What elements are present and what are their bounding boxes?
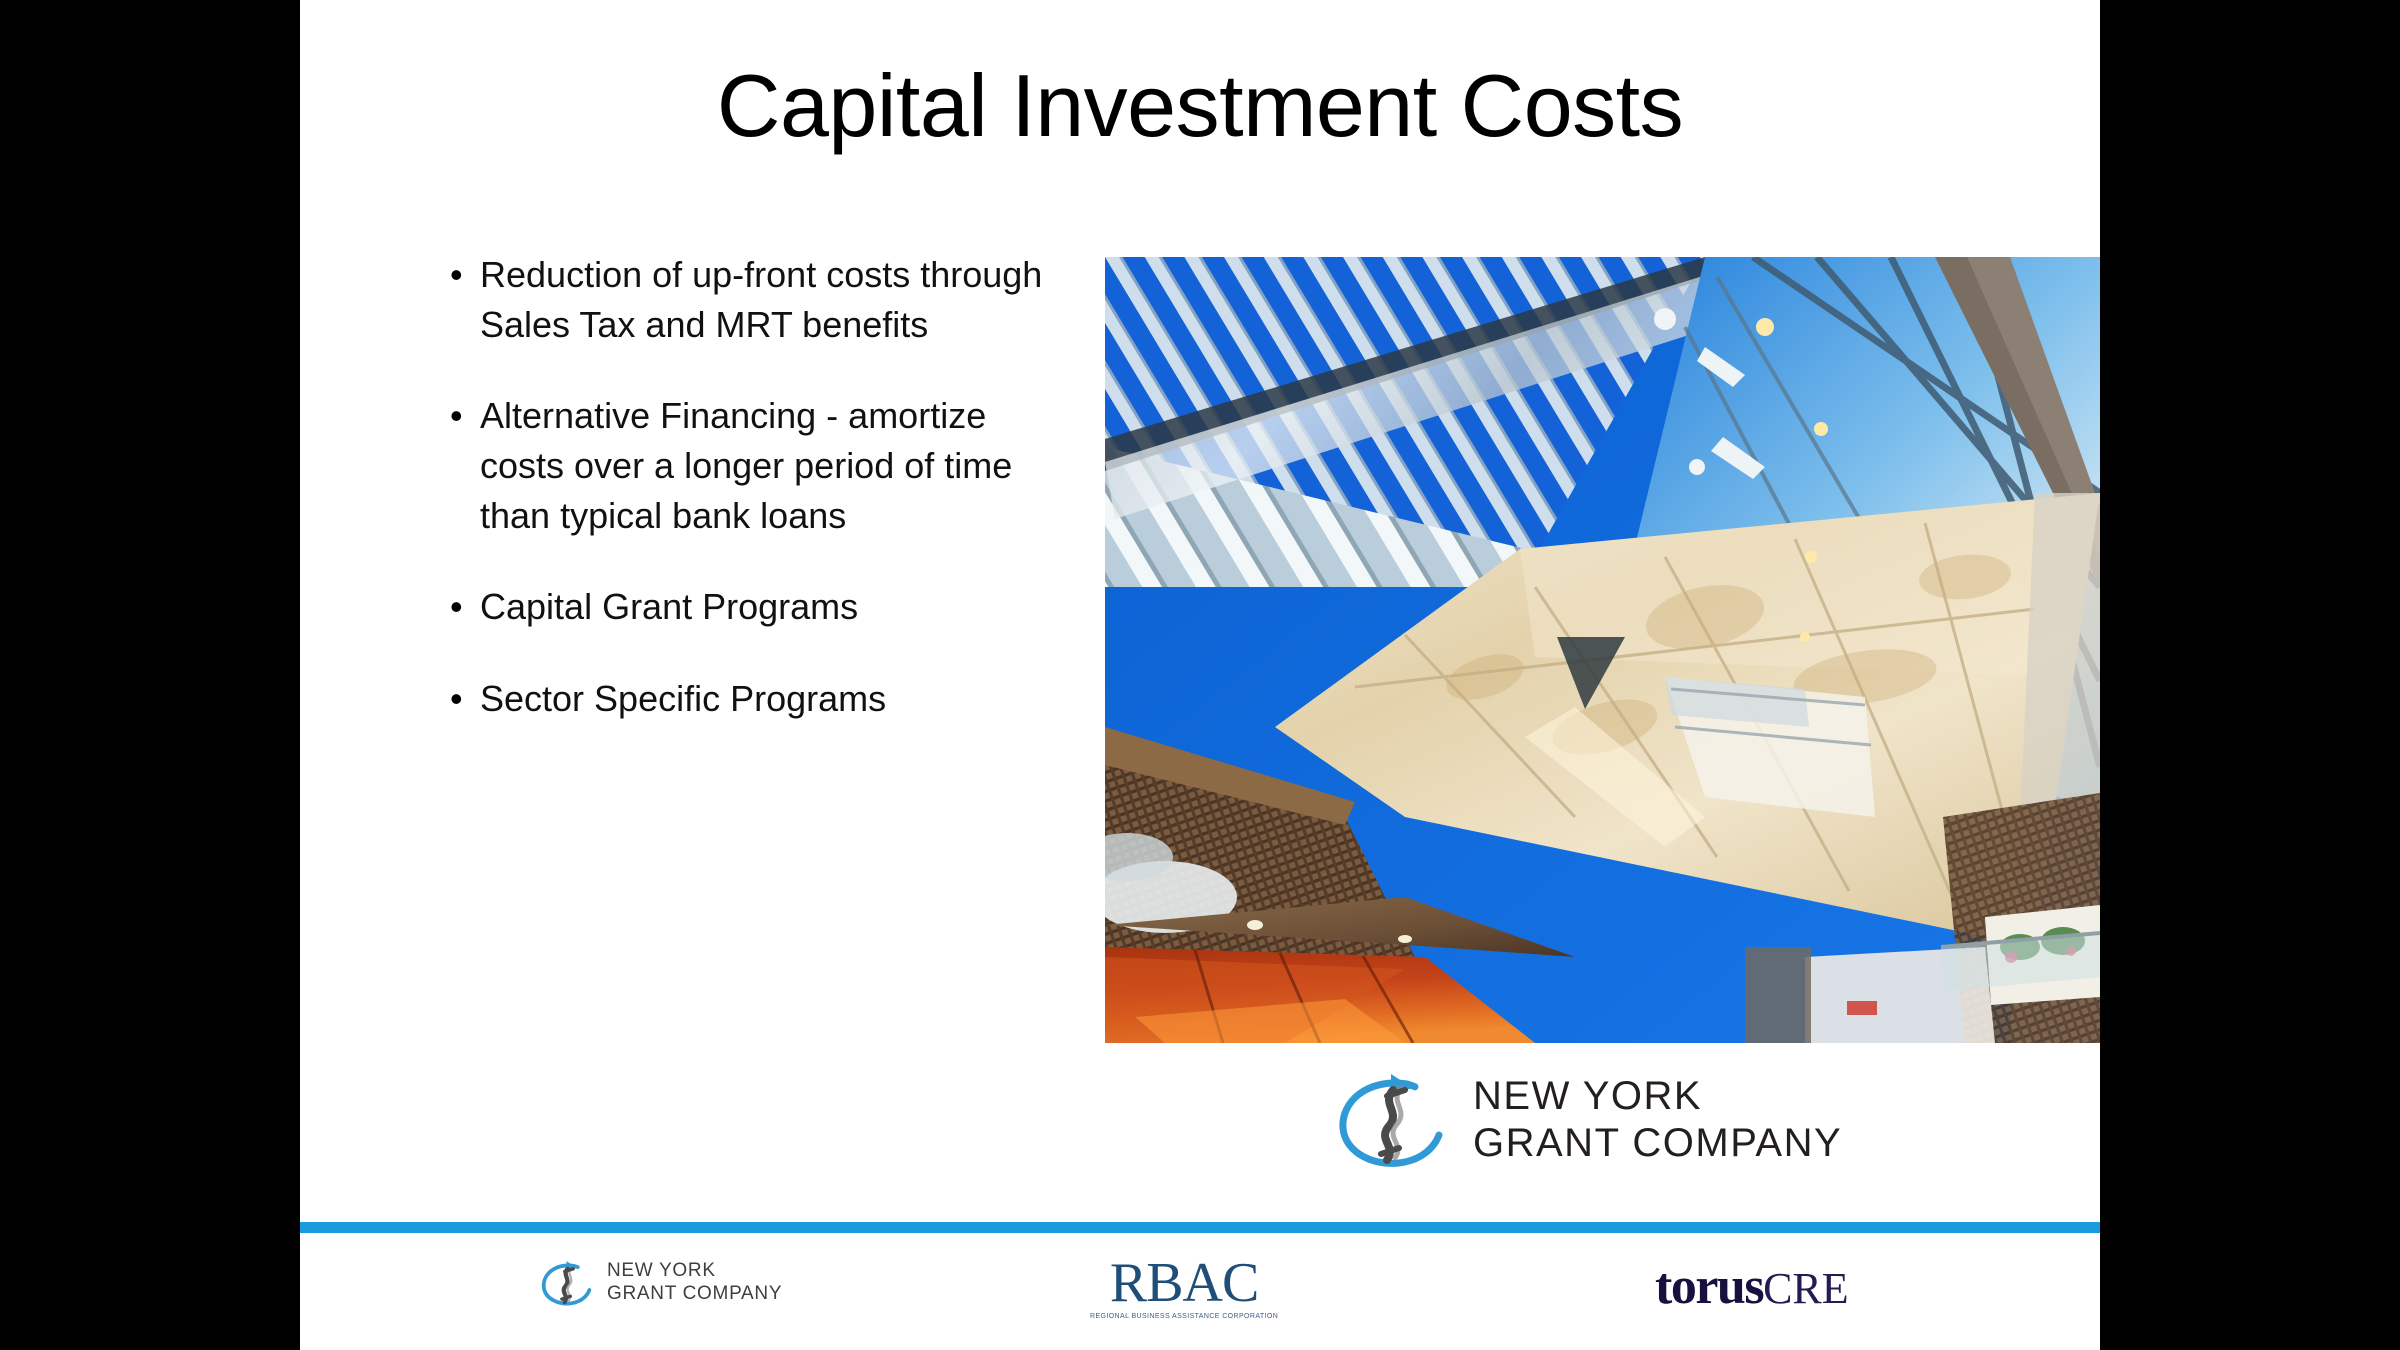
- footer-logo-new-york-grant-company: NEW YORK GRANT COMPANY: [540, 1259, 782, 1307]
- accent-divider: [300, 1222, 2100, 1233]
- footer-nygc-line1: NEW YORK: [607, 1260, 716, 1281]
- slide-photo: [1105, 257, 2100, 1043]
- slide-footer: NEW YORK GRANT COMPANY RBAC REGIONAL BUS…: [300, 1233, 2100, 1350]
- bullet-marker-icon: •: [450, 674, 480, 724]
- list-item-text: Capital Grant Programs: [480, 582, 1050, 632]
- bullet-marker-icon: •: [450, 582, 480, 632]
- torus-wordmark: torus: [1655, 1261, 1763, 1313]
- presentation-slide: Capital Investment Costs • Reduction of …: [300, 0, 2100, 1350]
- rbac-tagline: REGIONAL BUSINESS ASSISTANCE CORPORATION: [1090, 1313, 1278, 1321]
- nygc-wordmark-line1: NEW YORK: [1473, 1074, 1702, 1118]
- footer-logo-torus-cre: torus CRE: [1655, 1261, 1849, 1313]
- bullet-list: • Reduction of up-front costs through Sa…: [450, 250, 1050, 724]
- cre-wordmark: CRE: [1763, 1267, 1849, 1311]
- list-item: • Sector Specific Programs: [450, 674, 1050, 724]
- list-item: • Capital Grant Programs: [450, 582, 1050, 632]
- footer-logo-rbac: RBAC REGIONAL BUSINESS ASSISTANCE CORPOR…: [1090, 1255, 1278, 1321]
- list-item-text: Alternative Financing - amortize costs o…: [480, 391, 1050, 540]
- building-interior-illustration: [1105, 257, 2100, 1043]
- nygc-wordmark: NEW YORK GRANT COMPANY: [1473, 1073, 1842, 1167]
- list-item-text: Reduction of up-front costs through Sale…: [480, 250, 1050, 349]
- list-item-text: Sector Specific Programs: [480, 674, 1050, 724]
- footer-nygc-wordmark: NEW YORK GRANT COMPANY: [607, 1260, 782, 1306]
- list-item: • Alternative Financing - amortize costs…: [450, 391, 1050, 540]
- nygc-swoosh-dollar-icon: [540, 1259, 596, 1307]
- new-york-grant-company-logo: NEW YORK GRANT COMPANY: [1335, 1070, 1842, 1170]
- list-item: • Reduction of up-front costs through Sa…: [450, 250, 1050, 349]
- nygc-swoosh-dollar-icon: [1335, 1070, 1453, 1170]
- rbac-acronym: RBAC: [1110, 1255, 1259, 1311]
- bullet-marker-icon: •: [450, 250, 480, 300]
- footer-nygc-line2: GRANT COMPANY: [607, 1283, 782, 1304]
- nygc-wordmark-line2: GRANT COMPANY: [1473, 1121, 1842, 1165]
- bullet-marker-icon: •: [450, 391, 480, 441]
- page-title: Capital Investment Costs: [300, 58, 2100, 155]
- slide-viewer: Capital Investment Costs • Reduction of …: [0, 0, 2400, 1350]
